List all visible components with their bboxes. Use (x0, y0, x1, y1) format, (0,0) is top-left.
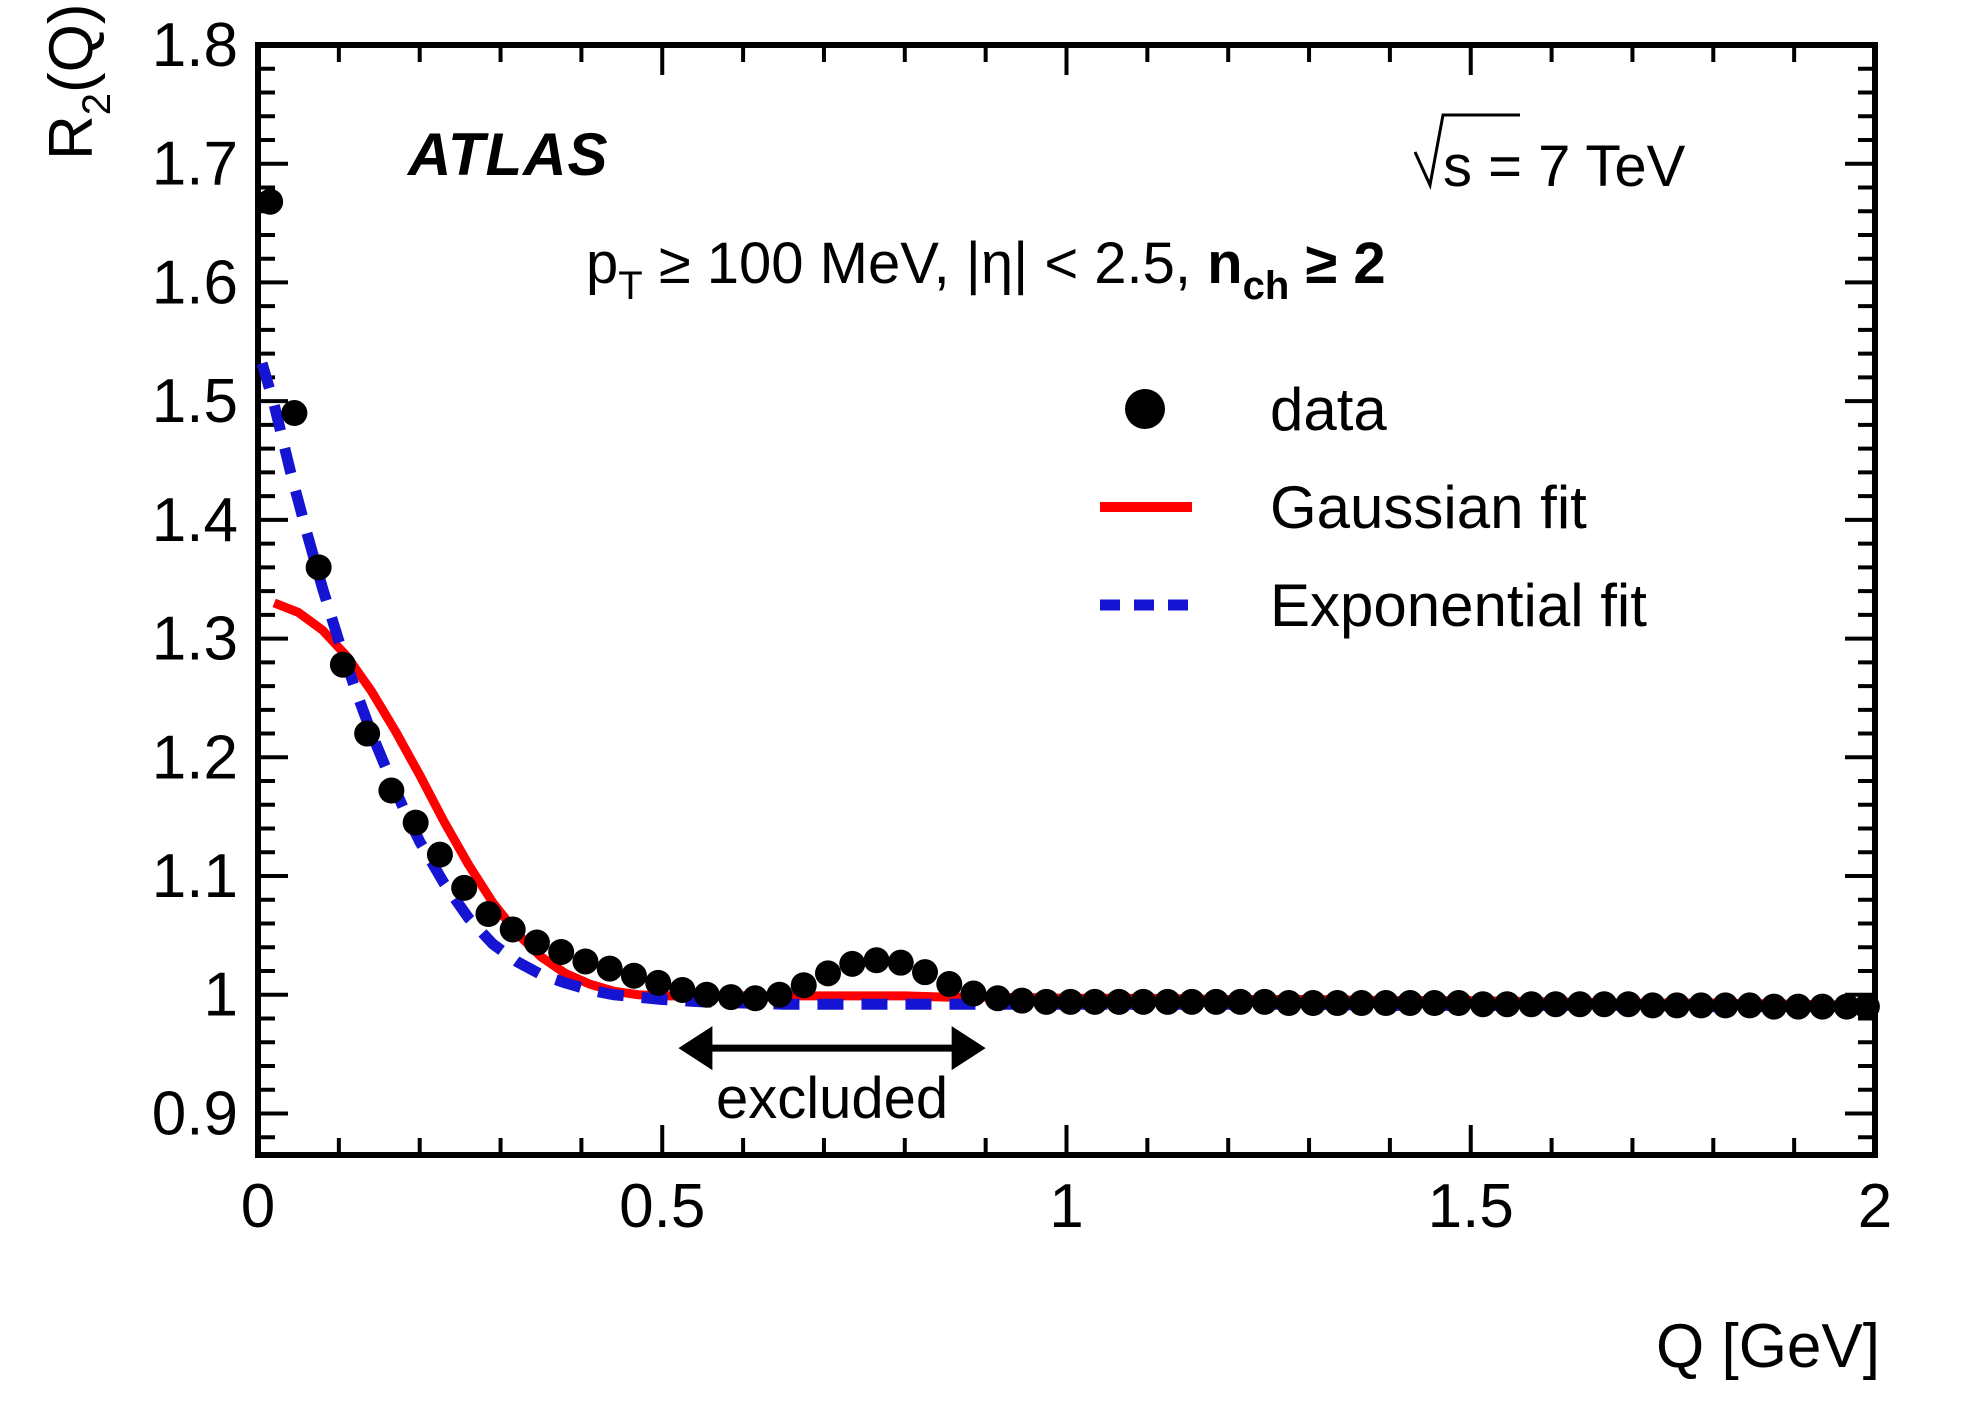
y-axis-title-base: R (37, 115, 106, 160)
figure-canvas: 00.511.52 0.911.11.21.31.41.51.61.71.8 e… (0, 0, 1969, 1413)
data-point (864, 947, 890, 973)
data-point (1785, 994, 1811, 1020)
y-tick-label: 1 (204, 961, 238, 1030)
y-tick-label: 1.4 (152, 486, 238, 555)
y-tick-label: 1.1 (152, 842, 238, 911)
data-point (888, 950, 914, 976)
y-tick-label: 1.3 (152, 605, 238, 674)
data-point (1543, 991, 1569, 1017)
data-point (742, 985, 768, 1011)
data-point (936, 971, 962, 997)
data-point (718, 984, 744, 1010)
y-tick-label: 1.8 (152, 11, 238, 80)
y-tick-label: 0.9 (152, 1079, 238, 1148)
data-point (815, 960, 841, 986)
data-point (766, 982, 792, 1008)
data-point (1737, 992, 1763, 1018)
data-point (403, 810, 429, 836)
atlas-label: ATLAS (406, 121, 609, 188)
data-point (1518, 991, 1544, 1017)
data-point (354, 721, 380, 747)
legend-label-exponential-fit: Exponential fit (1270, 572, 1647, 639)
data-point (985, 985, 1011, 1011)
data-point (1373, 990, 1399, 1016)
data-point (1397, 990, 1423, 1016)
data-point (572, 948, 598, 974)
legend-label-gaussian-fit: Gaussian fit (1270, 474, 1587, 541)
data-point (1033, 989, 1059, 1015)
data-point (1203, 989, 1229, 1015)
data-point (961, 981, 987, 1007)
data-point (451, 875, 477, 901)
x-tick-label: 1.5 (1428, 1172, 1514, 1241)
data-point (694, 982, 720, 1008)
data-point (330, 652, 356, 678)
data-point (1130, 989, 1156, 1015)
data-point (500, 916, 526, 942)
y-tick-label: 1.6 (152, 248, 238, 317)
data-point (1106, 989, 1132, 1015)
data-point (1761, 994, 1787, 1020)
r2-of-q-plot: 00.511.52 0.911.11.21.31.41.51.61.71.8 e… (0, 0, 1969, 1413)
data-point (1324, 990, 1350, 1016)
kin-nch: n (1207, 231, 1242, 296)
data-point (1227, 989, 1253, 1015)
data-point (1300, 990, 1326, 1016)
data-point (548, 939, 574, 965)
data-point (1712, 992, 1738, 1018)
data-point (1009, 988, 1035, 1014)
data-point (1854, 994, 1880, 1020)
x-axis-title: Q [GeV] (1656, 1312, 1880, 1381)
kin-nch-sub: ch (1243, 264, 1290, 308)
kin-mid: ≥ 100 MeV, |η| < 2.5, (643, 231, 1207, 296)
x-tick-label: 0 (241, 1172, 275, 1241)
x-tick-label: 2 (1858, 1172, 1892, 1241)
kin-pt-sub: T (618, 264, 642, 308)
data-point (645, 970, 671, 996)
data-point (524, 930, 550, 956)
data-point (1615, 991, 1641, 1017)
data-point (1179, 989, 1205, 1015)
data-point (1252, 989, 1278, 1015)
legend-marker-data-icon (1125, 389, 1165, 429)
data-point (257, 189, 283, 215)
data-point (281, 400, 307, 426)
data-point (597, 956, 623, 982)
y-tick-label: 1.2 (152, 723, 238, 792)
data-point (1276, 990, 1302, 1016)
y-tick-label: 1.5 (152, 367, 238, 436)
data-point (378, 778, 404, 804)
data-point (1688, 992, 1714, 1018)
excluded-label: excluded (716, 1066, 948, 1131)
y-axis-title-rest: (Q) (37, 3, 106, 93)
y-axis-title-sub: 2 (75, 93, 119, 115)
data-point (475, 901, 501, 927)
kin-pt: p (586, 231, 618, 296)
data-point (1082, 989, 1108, 1015)
x-tick-label: 1 (1049, 1172, 1083, 1241)
data-point (1664, 992, 1690, 1018)
data-point (1155, 989, 1181, 1015)
energy-label-visible: s = 7 TeV (1443, 134, 1686, 199)
data-point (1470, 991, 1496, 1017)
data-point (1349, 990, 1375, 1016)
x-tick-label: 0.5 (619, 1172, 705, 1241)
plot-background (0, 0, 1969, 1413)
data-point (1591, 991, 1617, 1017)
data-point (669, 977, 695, 1003)
y-tick-label: 1.7 (152, 130, 238, 199)
data-point (1640, 992, 1666, 1018)
kin-tail: ≥ 2 (1289, 231, 1385, 296)
data-point (621, 963, 647, 989)
data-point (1058, 989, 1084, 1015)
data-point (791, 972, 817, 998)
data-point (1421, 990, 1447, 1016)
legend-label-data: data (1270, 376, 1387, 443)
data-point (1809, 994, 1835, 1020)
data-point (839, 951, 865, 977)
data-point (1567, 991, 1593, 1017)
data-point (306, 554, 332, 580)
data-point (912, 959, 938, 985)
data-point (1494, 991, 1520, 1017)
data-point (427, 842, 453, 868)
data-point (1446, 990, 1472, 1016)
